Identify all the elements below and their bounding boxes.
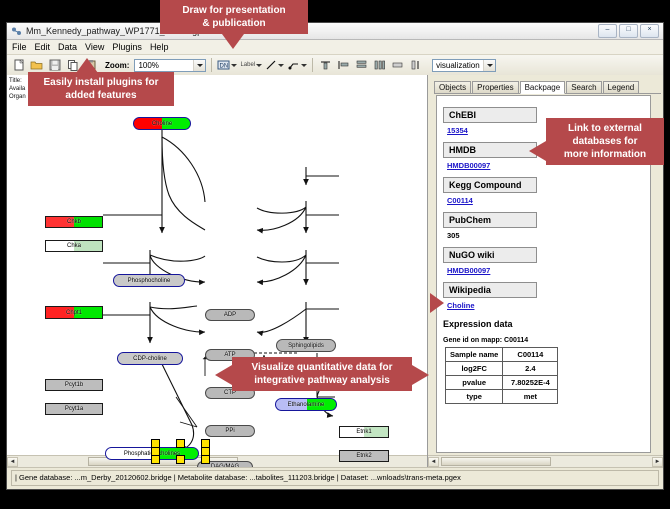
node-phosphocholine[interactable]: Phosphocholine (113, 274, 185, 287)
table-row: log2FC 2.4 (446, 362, 558, 376)
side-panel-tabs: Objects Properties Backpage Search Legen… (434, 79, 661, 94)
expression-data-heading: Expression data (443, 319, 646, 329)
chevron-down-icon[interactable] (483, 60, 495, 71)
node-sphingolipids[interactable]: Sphingolipids (276, 339, 336, 352)
selection-handle-s[interactable] (176, 455, 185, 464)
callout-draw-line2: & publication (202, 18, 265, 29)
interaction-tool-icon[interactable] (287, 59, 307, 71)
table-row: Sample name C00114 (446, 348, 558, 362)
chevron-down-icon[interactable] (193, 60, 205, 71)
save-file-icon[interactable] (47, 58, 62, 73)
expr-key: log2FC (446, 362, 503, 376)
callout-draw-line1: Draw for presentation (182, 5, 285, 16)
selection-handle-se[interactable] (201, 455, 210, 464)
node-adp[interactable]: ADP (205, 309, 255, 321)
callout-plugins-arrow-icon (76, 58, 98, 73)
callout-links-arrow-tail-icon (430, 293, 444, 313)
callout-quantitative: Visualize quantitative data for integrat… (232, 357, 412, 391)
wikipedia-header: Wikipedia (443, 282, 537, 298)
node-chka[interactable]: Chka (45, 240, 103, 252)
expr-value: met (503, 390, 558, 404)
zoom-combo[interactable]: 100% (134, 59, 206, 72)
pubchem-header: PubChem (443, 212, 537, 228)
callout-draw: Draw for presentation & publication (160, 0, 308, 34)
expr-key: pvalue (446, 376, 503, 390)
callout-quant-arrow-left-icon (215, 365, 232, 385)
zoom-value: 100% (138, 61, 158, 70)
node-pcyt1a[interactable]: Pcyt1a (45, 403, 103, 415)
kegg-compound-link[interactable]: C00114 (447, 196, 646, 205)
new-file-icon[interactable] (11, 58, 26, 73)
datanode-tool-icon[interactable]: DN (217, 59, 237, 71)
chevron-down-icon[interactable] (278, 64, 284, 67)
title-bar: Mm_Kennedy_pathway_WP1771_45176.gpml – □… (7, 23, 663, 40)
nugo-wiki-link[interactable]: HMDB00097 (447, 266, 646, 275)
callout-quant-line2: integrative pathway analysis (254, 375, 390, 386)
close-button[interactable]: × (640, 24, 659, 38)
selection-handle-sw[interactable] (151, 455, 160, 464)
node-ethanolamine-top[interactable]: Ethanolamine (275, 398, 337, 411)
expr-value: 7.80252E-4 (503, 376, 558, 390)
selection-handle-n[interactable] (176, 439, 185, 448)
node-chkb[interactable]: Chkb (45, 216, 103, 228)
common-width-icon[interactable] (390, 58, 405, 73)
table-row: type met (446, 390, 558, 404)
callout-draw-arrow-icon (222, 34, 244, 49)
gene-id-on-mapp: Gene id on mapp: C00114 (443, 337, 646, 344)
pathway-canvas[interactable]: Title: Availa Organ (7, 75, 428, 467)
zoom-label: Zoom: (105, 61, 129, 70)
node-cdp-choline[interactable]: CDP-choline (117, 352, 183, 365)
menu-item-edit[interactable]: Edit (35, 42, 51, 52)
scroll-left-arrow-icon[interactable]: ◄ (7, 457, 18, 467)
tab-search[interactable]: Search (566, 81, 601, 93)
distribute-icon[interactable] (372, 58, 387, 73)
node-ppi[interactable]: PPi (205, 425, 255, 437)
tab-legend[interactable]: Legend (603, 81, 640, 93)
align-left-icon[interactable] (336, 58, 351, 73)
node-choline-top[interactable]: Choline (133, 117, 191, 130)
menu-item-file[interactable]: File (12, 42, 27, 52)
callout-plugins: Easily install plugins for added feature… (28, 72, 174, 106)
open-file-icon[interactable] (29, 58, 44, 73)
expr-value: C00114 (503, 348, 558, 362)
menu-item-view[interactable]: View (85, 42, 104, 52)
tab-objects[interactable]: Objects (434, 81, 471, 93)
stack-vertical-icon[interactable] (354, 58, 369, 73)
tab-backpage[interactable]: Backpage (520, 81, 566, 94)
svg-text:DN: DN (220, 64, 229, 70)
align-top-icon[interactable] (318, 58, 333, 73)
sidepanel-hscrollbar[interactable]: ◄ ► (428, 455, 663, 467)
toolbar-separator (312, 58, 313, 72)
menu-item-plugins[interactable]: Plugins (112, 42, 142, 52)
chevron-down-icon[interactable] (256, 64, 262, 67)
scroll-left-arrow-icon[interactable]: ◄ (428, 457, 439, 467)
wikipedia-link[interactable]: Choline (447, 301, 646, 310)
callout-links-arrow-icon (529, 141, 546, 161)
callout-quant-line1: Visualize quantitative data for (252, 362, 393, 373)
callout-quant-arrow-right-icon (412, 365, 429, 385)
menu-item-data[interactable]: Data (58, 42, 77, 52)
scroll-right-arrow-icon[interactable]: ► (652, 457, 663, 467)
menu-bar: File Edit Data View Plugins Help (7, 40, 663, 55)
visualization-value: visualization (436, 61, 480, 70)
callout-external-links: Link to external databases for more info… (546, 118, 664, 165)
window-controls: – □ × (598, 24, 659, 38)
kegg-compound-header: Kegg Compound (443, 177, 537, 193)
nugo-wiki-header: NuGO wiki (443, 247, 537, 263)
node-etnk2[interactable]: Etnk2 (339, 450, 389, 462)
table-row: pvalue 7.80252E-4 (446, 376, 558, 390)
callout-plugins-line1: Easily install plugins for (43, 77, 158, 88)
screenshot-root: Mm_Kennedy_pathway_WP1771_45176.gpml – □… (0, 0, 670, 509)
callout-links-line1: Link to external (568, 123, 642, 134)
line-tool-icon[interactable] (265, 59, 284, 71)
status-text: | Gene database: ...m_Derby_20120602.bri… (15, 473, 461, 482)
menu-item-help[interactable]: Help (150, 42, 169, 52)
hmdb-header: HMDB (443, 142, 537, 158)
scroll-thumb[interactable] (441, 457, 551, 466)
callout-links-line2: databases for (572, 136, 637, 147)
expr-key: Sample name (446, 348, 503, 362)
common-height-icon[interactable] (408, 58, 423, 73)
chevron-down-icon[interactable] (231, 64, 237, 67)
maximize-button[interactable]: □ (619, 24, 638, 38)
tab-properties[interactable]: Properties (472, 81, 518, 93)
node-etnk1[interactable]: Etnk1 (339, 426, 389, 438)
expression-table: Sample name C00114 log2FC 2.4 pvalue 7.8… (445, 347, 558, 404)
status-bar: | Gene database: ...m_Derby_20120602.bri… (7, 467, 663, 489)
visualization-combo[interactable]: visualization (432, 59, 496, 72)
node-pcyt1b[interactable]: Pcyt1b (45, 379, 103, 391)
minimize-button[interactable]: – (598, 24, 617, 38)
node-chpt1[interactable]: Chpt1 (45, 306, 103, 319)
expr-key: type (446, 390, 503, 404)
callout-links-line3: more information (564, 149, 646, 160)
chevron-down-icon[interactable] (301, 64, 307, 67)
toolbar-separator (211, 58, 212, 72)
label-tool-icon[interactable]: Label (240, 62, 262, 68)
chebi-header: ChEBI (443, 107, 537, 123)
callout-plugins-line2: added features (65, 90, 136, 101)
expr-value: 2.4 (503, 362, 558, 376)
pubchem-value: 305 (447, 231, 646, 240)
pathvisio-app-icon (11, 26, 22, 37)
